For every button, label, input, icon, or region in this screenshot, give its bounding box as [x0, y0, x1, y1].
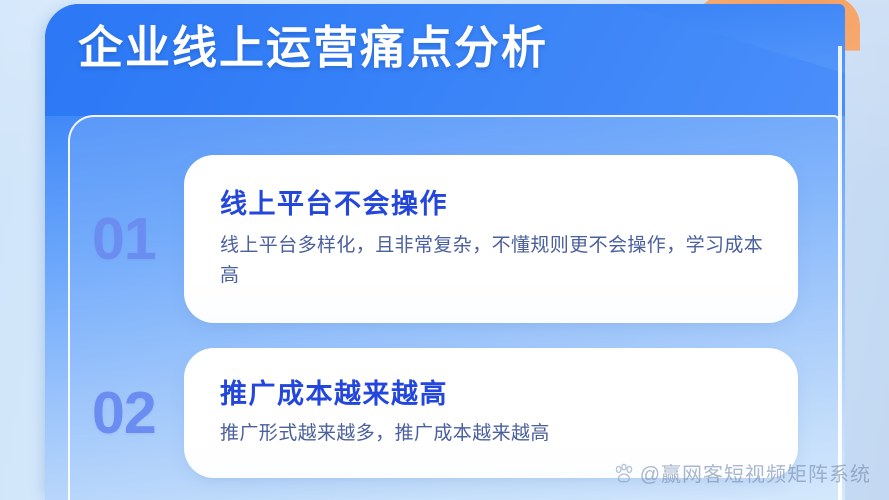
page-title: 企业线上运营痛点分析: [78, 23, 548, 73]
list-item: 01 线上平台不会操作 线上平台多样化，且非常复杂，不懂规则更不会操作，学习成本…: [88, 155, 798, 323]
item-number: 02: [88, 384, 184, 443]
item-title: 推广成本越来越高: [220, 378, 768, 412]
slide-canvas: 企业线上运营痛点分析 01 线上平台不会操作 线上平台多样化，且非常复杂，不懂规…: [0, 0, 889, 500]
item-description: 线上平台多样化，且非常复杂，不懂规则更不会操作，学习成本高: [220, 231, 765, 293]
item-card: 线上平台不会操作 线上平台多样化，且非常复杂，不懂规则更不会操作，学习成本高: [184, 155, 798, 323]
list-item: 02 推广成本越来越高 推广形式越来越多，推广成本越来越高: [88, 348, 798, 478]
item-card: 推广成本越来越高 推广形式越来越多，推广成本越来越高: [184, 348, 798, 478]
item-description: 推广形式越来越多，推广成本越来越高: [220, 419, 765, 450]
item-title: 线上平台不会操作: [220, 188, 768, 222]
item-number: 01: [88, 210, 184, 269]
